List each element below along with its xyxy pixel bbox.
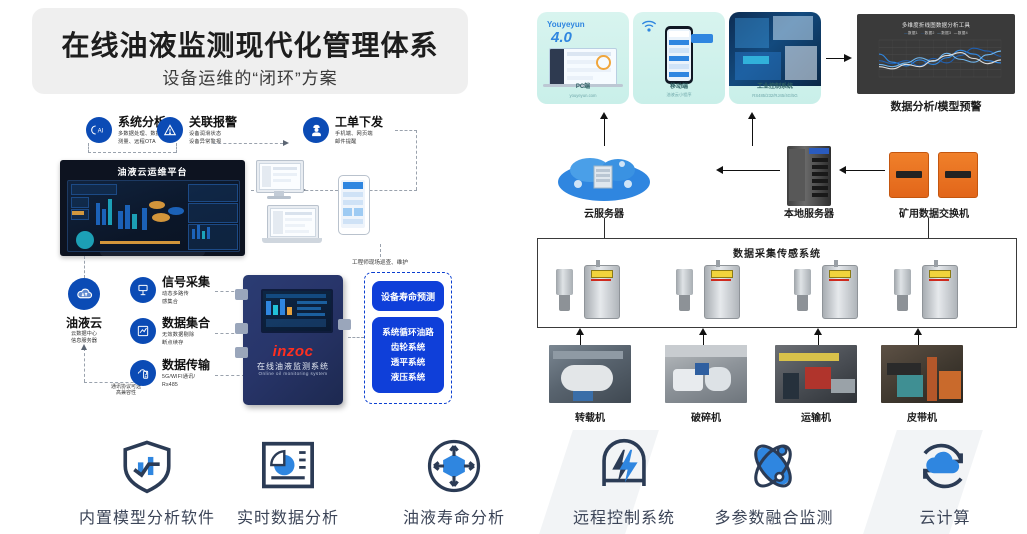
device-port — [235, 289, 248, 300]
bottom-feature-label-2: 油液寿命分析 — [362, 504, 546, 528]
flow-arrow-head — [844, 54, 852, 62]
flow-arrow-head — [748, 112, 756, 119]
mine-switch-icon — [889, 152, 929, 198]
feature-title: 信号采集 — [162, 276, 242, 289]
feature-linked-alarm: 关联报警 设备润滑状态 设备异常警报 — [189, 116, 261, 146]
node-label-local-server: 本地服务器 — [759, 205, 859, 220]
system-item: 齿轮系统 — [391, 340, 425, 355]
feature-desc-line1: 手机端、网页端 — [335, 131, 407, 137]
cloud-refresh-icon — [914, 437, 972, 495]
protocol-note-line2: 高兼容性 — [86, 390, 166, 396]
probe-tip — [897, 295, 908, 311]
device-brand: inzoc — [243, 343, 343, 360]
prediction-headline: 设备寿命预测 — [372, 281, 444, 311]
device-port — [235, 323, 248, 334]
data-upload-icon — [130, 360, 156, 386]
connector-dashed — [84, 348, 85, 382]
connector-arrow — [283, 140, 289, 146]
cloud-platform-dashboard: 油液云运维平台 — [60, 160, 245, 256]
sensor-transmitter — [922, 265, 958, 319]
device-screen — [261, 289, 333, 333]
page-title: 在线油液监测现代化管理体系 — [32, 24, 468, 64]
cloud-node-title: 油液云 — [44, 314, 124, 331]
client-card-caption: 移动端 — [633, 81, 725, 90]
flow-arrow-head — [699, 328, 707, 335]
flow-arrow-head — [576, 328, 584, 335]
equipment-photo — [549, 345, 631, 403]
bolt-remote-icon — [596, 437, 652, 495]
probe-tip — [679, 295, 690, 311]
feature-desc-line1: 设备润滑状态 — [189, 131, 261, 137]
bottom-feature-label-5: 云计算 — [871, 504, 1019, 528]
connector-dashed — [416, 130, 417, 190]
connector-dashed — [88, 152, 176, 153]
cloud-node: 油液云 云数据中心 信息服务器 — [44, 314, 124, 344]
client-card-sub: youyeyun.com — [537, 93, 629, 98]
engineer-note: 工程师现场巡查、维护 — [310, 258, 450, 266]
equipment-photo — [775, 345, 857, 403]
connector-dashed — [84, 256, 85, 278]
infographic-canvas: 在线油液监测现代化管理体系 设备运维的“闭环”方案 AI 系统分析 多数据处理、… — [0, 0, 1027, 534]
cloud-node-desc-line1: 云数据中心 — [44, 331, 124, 338]
oil-sensor-probe — [556, 269, 573, 295]
oil-monitoring-device: inzoc 在线油液监测系统 Online oil monitoring sys… — [243, 275, 343, 405]
probe-tip — [559, 295, 570, 311]
device-name-en: Online oil monitoring system — [243, 371, 343, 376]
system-item: 系统循环油路 — [382, 325, 434, 340]
pie-report-icon — [258, 440, 318, 492]
desktop-monitor — [256, 160, 302, 200]
flow-arrow — [722, 170, 780, 171]
chart-legend: —数据1 —数据2 —数据3 —数据4 — [857, 31, 1015, 36]
feature-data-aggregation: 数据集合 无效数据剔除 断点续存 — [162, 317, 242, 347]
sensor-system-title: 数据采集传感系统 — [538, 245, 1016, 260]
client-card-mobile: 移动端 油液云小程序 — [633, 12, 725, 104]
signal-probe-icon — [130, 277, 156, 303]
shield-chart-icon — [118, 437, 176, 495]
oil-sensor-probe — [794, 269, 811, 295]
device-port — [235, 347, 248, 358]
connector-dashed — [88, 143, 89, 153]
connector-dashed — [395, 130, 417, 131]
mine-switch-icon — [938, 152, 978, 198]
equipment-photo — [881, 345, 963, 403]
node-label-mine-switch: 矿用数据交换机 — [874, 205, 994, 220]
flow-arrow — [845, 170, 885, 171]
device-port — [338, 319, 351, 330]
chart-plot — [873, 38, 1003, 82]
svg-text:AI: AI — [98, 129, 104, 135]
connector-dashed — [215, 375, 245, 376]
chart-svg — [873, 38, 1003, 82]
local-server-icon — [787, 146, 831, 206]
client-card-caption: 工业控制系统 — [729, 81, 821, 90]
flow-arrow-head — [814, 328, 822, 335]
system-item: 液压系统 — [391, 370, 425, 385]
client-card-industrial: 工业控制系统 RS485/232/RJ45/4G/5G — [729, 12, 821, 104]
flow-arrow-head — [914, 328, 922, 335]
analysis-chart-panel: 多维度折线图数据分析工具 —数据1 —数据2 —数据3 —数据4 — [857, 14, 1015, 94]
connector-dashed — [213, 143, 283, 144]
cloud-sync-icon — [68, 278, 100, 310]
feature-data-transmission: 数据传输 5G/WIFI通讯/ Rs485 — [162, 359, 242, 389]
dashboard-title: 油液云运维平台 — [60, 165, 245, 178]
equipment-label: 运输机 — [775, 409, 857, 424]
youyeyun-badge-line1: Youyeyun — [547, 20, 585, 29]
bottom-feature-label-4: 多参数融合监测 — [682, 504, 866, 528]
page-subtitle: 设备运维的“闭环”方案 — [32, 64, 468, 89]
chart-line-icon — [130, 318, 156, 344]
flow-arrow — [604, 118, 605, 146]
cloud-server-icon — [556, 150, 652, 206]
equipment-label: 皮带机 — [881, 409, 963, 424]
dashboard-screen — [67, 180, 240, 252]
worker-icon — [303, 117, 329, 143]
youyeyun-badge-line2: 4.0 — [551, 29, 572, 46]
flow-arrow-head — [716, 166, 723, 174]
prediction-box: 设备寿命预测 系统循环油路 齿轮系统 透平系统 液压系统 — [364, 272, 452, 404]
client-card-caption: PC端 — [537, 81, 629, 90]
sensor-transmitter — [584, 265, 620, 319]
ai-icon: AI — [86, 117, 112, 143]
equipment-label: 破碎机 — [665, 409, 747, 424]
sensor-system-box: 数据采集传感系统 — [537, 238, 1017, 328]
feature-title: 关联报警 — [189, 116, 261, 129]
equipment-photo — [665, 345, 747, 403]
prediction-systems: 系统循环油路 齿轮系统 透平系统 液压系统 — [372, 317, 444, 393]
atom-orbit-icon — [744, 437, 802, 495]
feature-title: 数据集合 — [162, 317, 242, 330]
flow-arrow — [752, 118, 753, 146]
oil-sensor-probe — [676, 269, 693, 295]
chart-title: 多维度折线图数据分析工具 — [857, 21, 1015, 29]
connector-dashed — [348, 337, 364, 338]
laptop — [262, 205, 322, 245]
feature-title: 数据传输 — [162, 359, 242, 372]
client-card-sub: 油液云小程序 — [633, 92, 725, 98]
client-card-sub: RS485/232/RJ45/4G/5G — [729, 93, 821, 98]
analysis-panel-caption: 数据分析/模型预警 — [857, 98, 1015, 114]
bottom-feature-label-1: 实时数据分析 — [196, 504, 380, 528]
feature-desc-line2: 邮件提醒 — [335, 139, 407, 145]
flow-arrow-head — [600, 112, 608, 119]
connector-line — [604, 218, 605, 238]
alert-icon — [157, 117, 183, 143]
feature-desc-line2: 断点续存 — [162, 340, 242, 346]
client-card-pc: Youyeyun 4.0 PC端 youyeyun.com — [537, 12, 629, 104]
connector-dashed — [380, 244, 381, 257]
flow-arrow-head — [839, 166, 846, 174]
feature-title: 工单下发 — [335, 116, 407, 129]
sensor-transmitter — [704, 265, 740, 319]
smartphone — [338, 175, 368, 233]
connector-arrow — [81, 344, 87, 350]
feature-desc-line2: 测量、远程OTA — [118, 139, 190, 145]
title-card: 在线油液监测现代化管理体系 设备运维的“闭环”方案 — [32, 8, 468, 94]
system-item: 透平系统 — [391, 355, 425, 370]
feature-desc-line2: 感集合 — [162, 299, 242, 305]
sensor-transmitter — [822, 265, 858, 319]
oil-sensor-probe — [894, 269, 911, 295]
feature-desc-line2: Rs485 — [162, 382, 242, 388]
cube-arrows-icon — [425, 437, 483, 495]
equipment-label: 转载机 — [549, 409, 631, 424]
wifi-icon — [641, 19, 657, 37]
connector-line — [928, 218, 929, 238]
probe-tip — [797, 295, 808, 311]
connector-dashed — [176, 143, 177, 153]
